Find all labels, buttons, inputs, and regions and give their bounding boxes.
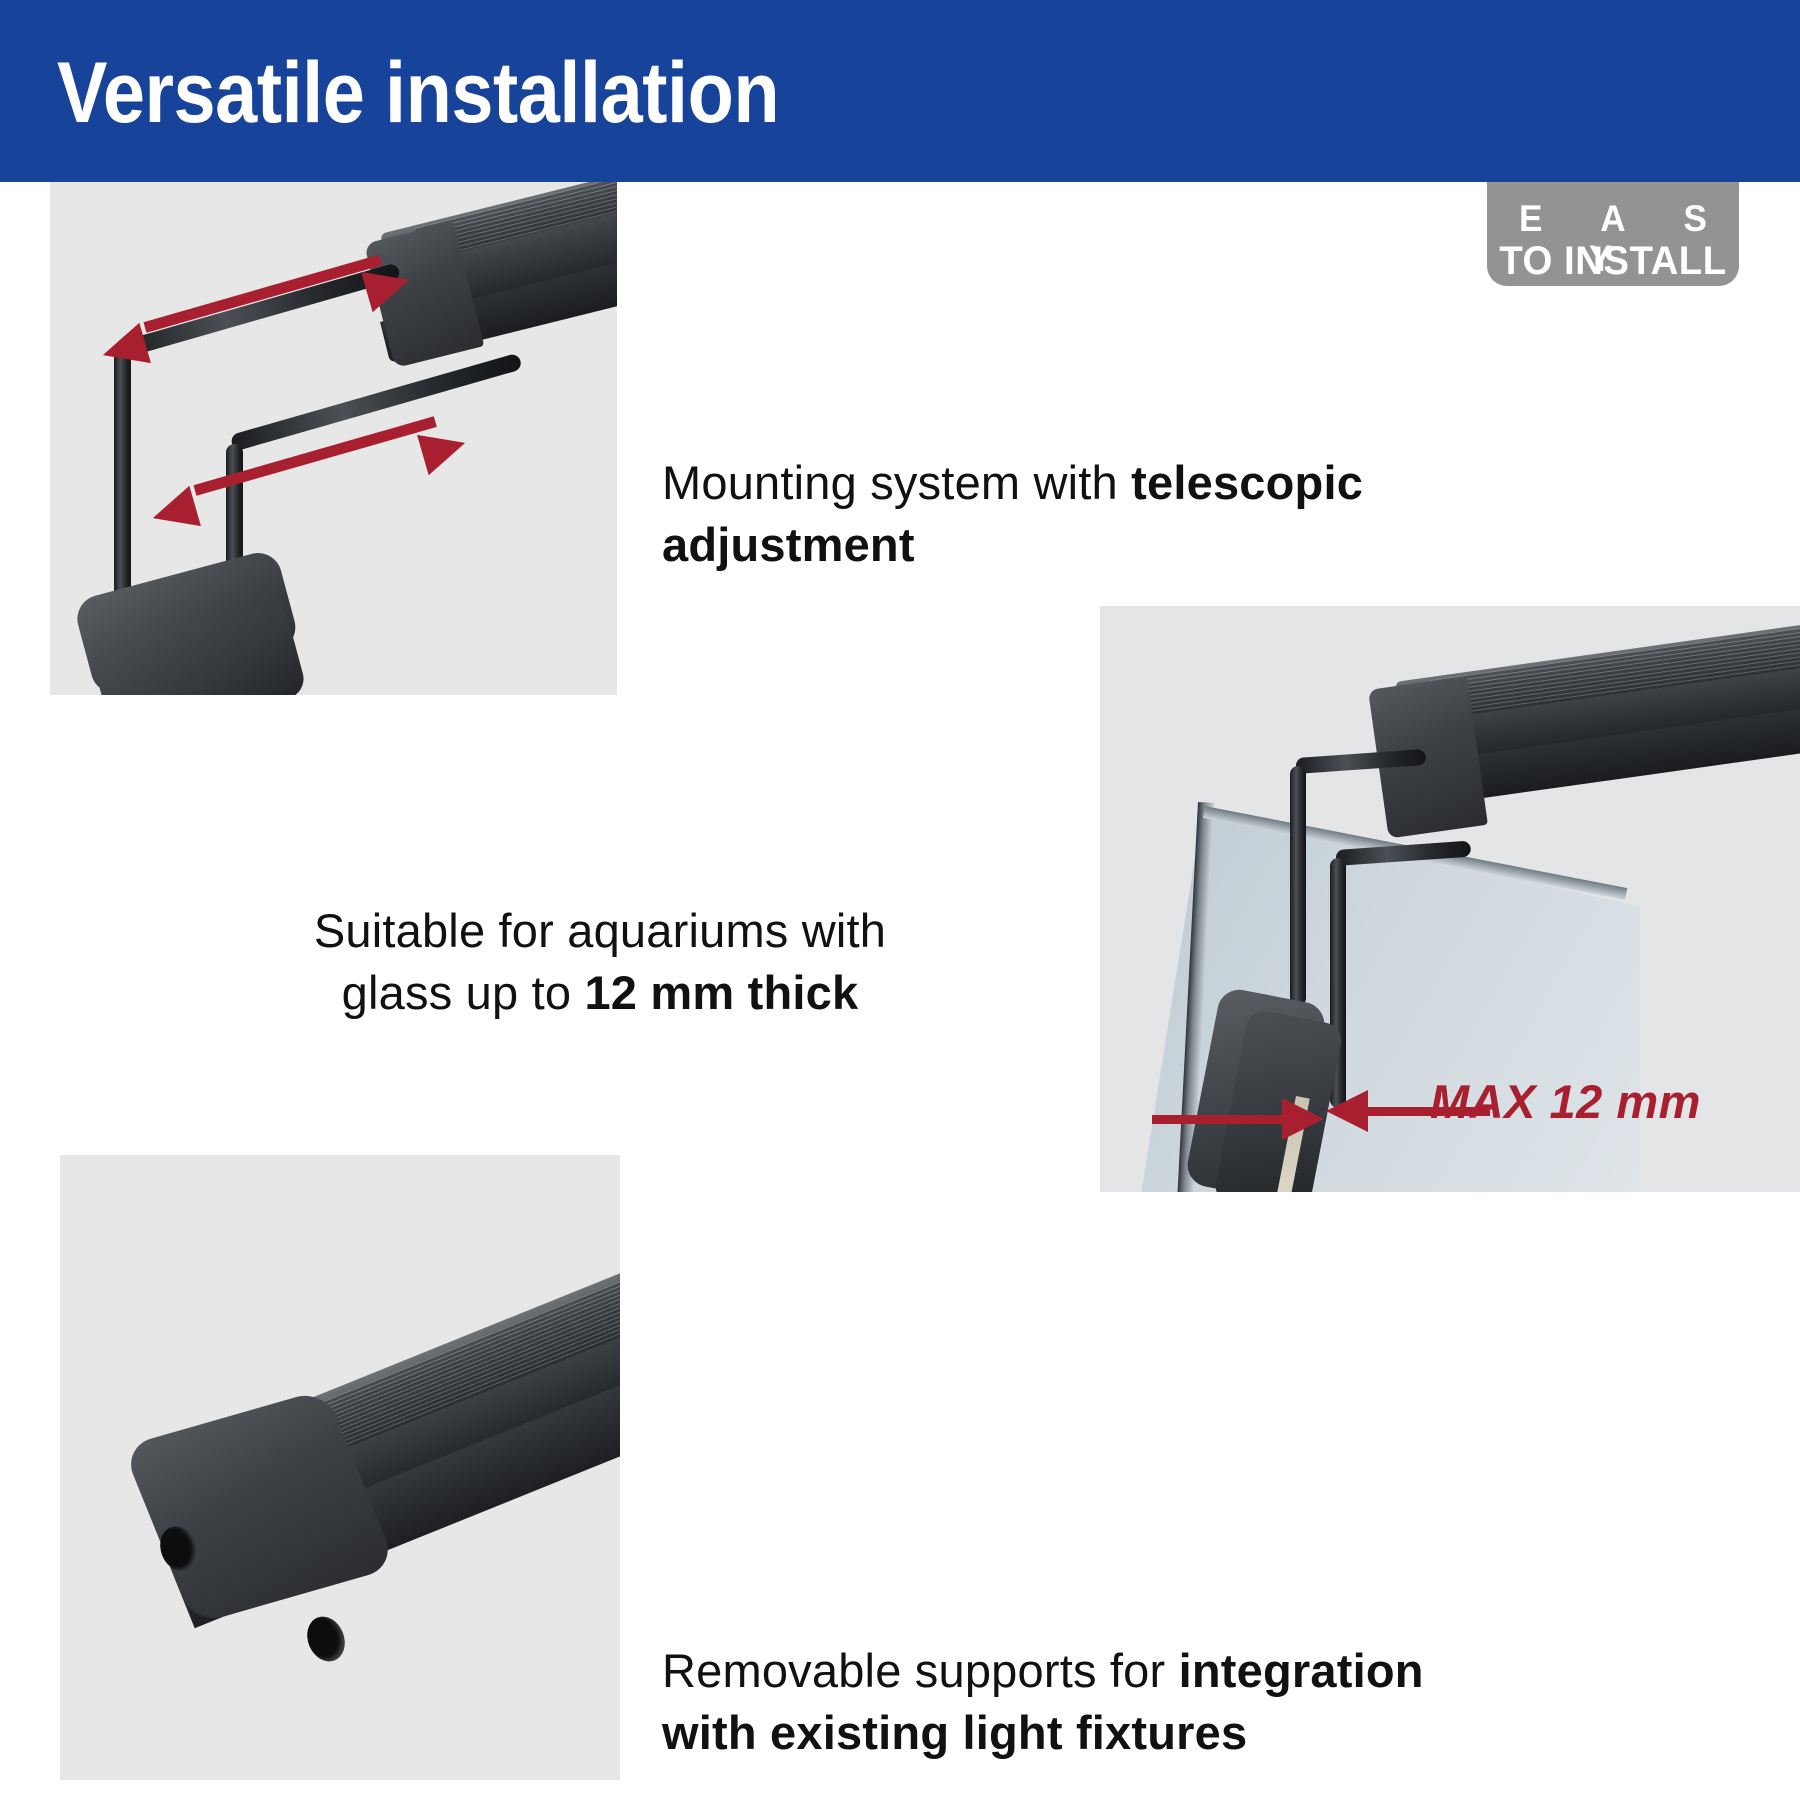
photo-telescopic-mounting — [50, 182, 617, 695]
photo-removable-supports — [60, 1155, 620, 1780]
header-banner: Versatile installation — [0, 0, 1800, 182]
bracket-rod-rear-vertical — [114, 350, 131, 615]
caption-mounting-regular: Mounting system with — [662, 456, 1131, 509]
caption-telescopic-adjustment: Mounting system with telescopic adjustme… — [662, 452, 1452, 576]
caption-supports-regular: Removable supports for — [662, 1644, 1179, 1697]
telescopic-arrow-lower-head-left — [147, 486, 201, 539]
telescopic-arrow-upper-head-left — [97, 323, 151, 376]
bracket-rod-rear-vertical — [1290, 766, 1306, 1006]
telescopic-arrow-lower-head-right — [417, 423, 471, 476]
infographic-page: MAX 12 mm E A S Y TO INSTALL Versatile i… — [0, 0, 1800, 1800]
badge-line-to-install: TO INSTALL — [1492, 240, 1734, 282]
page-title: Versatile installation — [57, 47, 779, 139]
caption-removable-supports: Removable supports for integration with … — [662, 1640, 1492, 1764]
bracket-rod-rear-horizontal — [118, 262, 401, 358]
measure-arrow-right-head — [1326, 1090, 1368, 1132]
measure-arrow-left-shaft — [1152, 1115, 1282, 1124]
measure-arrow-left-head — [1282, 1098, 1324, 1140]
caption-glass-bold: 12 mm thick — [584, 966, 858, 1019]
caption-glass-thickness: Suitable for aquariums with glass up to … — [270, 900, 930, 1024]
bracket-mounting-hole-bottom — [301, 1611, 352, 1667]
max-thickness-label: MAX 12 mm — [1430, 1077, 1701, 1127]
